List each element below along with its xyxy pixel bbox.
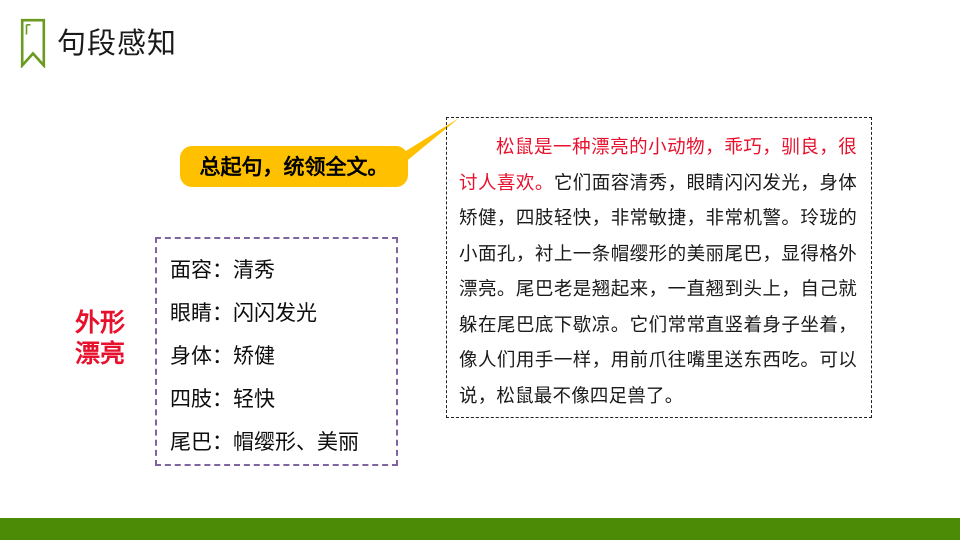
list-item: 眼睛：闪闪发光	[170, 292, 396, 335]
passage-paragraph: 松鼠是一种漂亮的小动物，乖巧，驯良，很讨人喜欢。它们面容清秀，眼睛闪闪发光，身体…	[459, 130, 857, 414]
list-item: 尾巴：帽缨形、美丽	[170, 421, 396, 464]
slide-canvas: 句段感知 总起句，统领全文。 外形 漂亮 面容：清秀 眼睛：闪闪发光 身体：矫健…	[0, 0, 960, 540]
list-item: 身体：矫健	[170, 335, 396, 378]
side-label-line-2: 漂亮	[52, 338, 148, 369]
side-label-line-1: 外形	[52, 307, 148, 338]
bookmark-icon	[20, 18, 46, 68]
side-label: 外形 漂亮	[52, 307, 148, 369]
passage-body-text: 它们面容清秀，眼睛闪闪发光，身体矫健，四肢轻快，非常敏捷，非常机警。玲珑的小面孔…	[459, 173, 857, 407]
callout-annotation: 总起句，统领全文。	[176, 110, 466, 192]
callout-text: 总起句，统领全文。	[200, 154, 389, 180]
footer-bar	[0, 518, 960, 540]
slide-header: 句段感知	[0, 0, 960, 80]
list-item: 四肢：轻快	[170, 378, 396, 421]
page-title: 句段感知	[57, 24, 177, 62]
passage-box: 松鼠是一种漂亮的小动物，乖巧，驯良，很讨人喜欢。它们面容清秀，眼睛闪闪发光，身体…	[446, 117, 872, 418]
list-item: 面容：清秀	[170, 249, 396, 292]
callout-bubble[interactable]: 总起句，统领全文。	[180, 146, 408, 187]
feature-list-box: 面容：清秀 眼睛：闪闪发光 身体：矫健 四肢：轻快 尾巴：帽缨形、美丽	[155, 237, 398, 466]
